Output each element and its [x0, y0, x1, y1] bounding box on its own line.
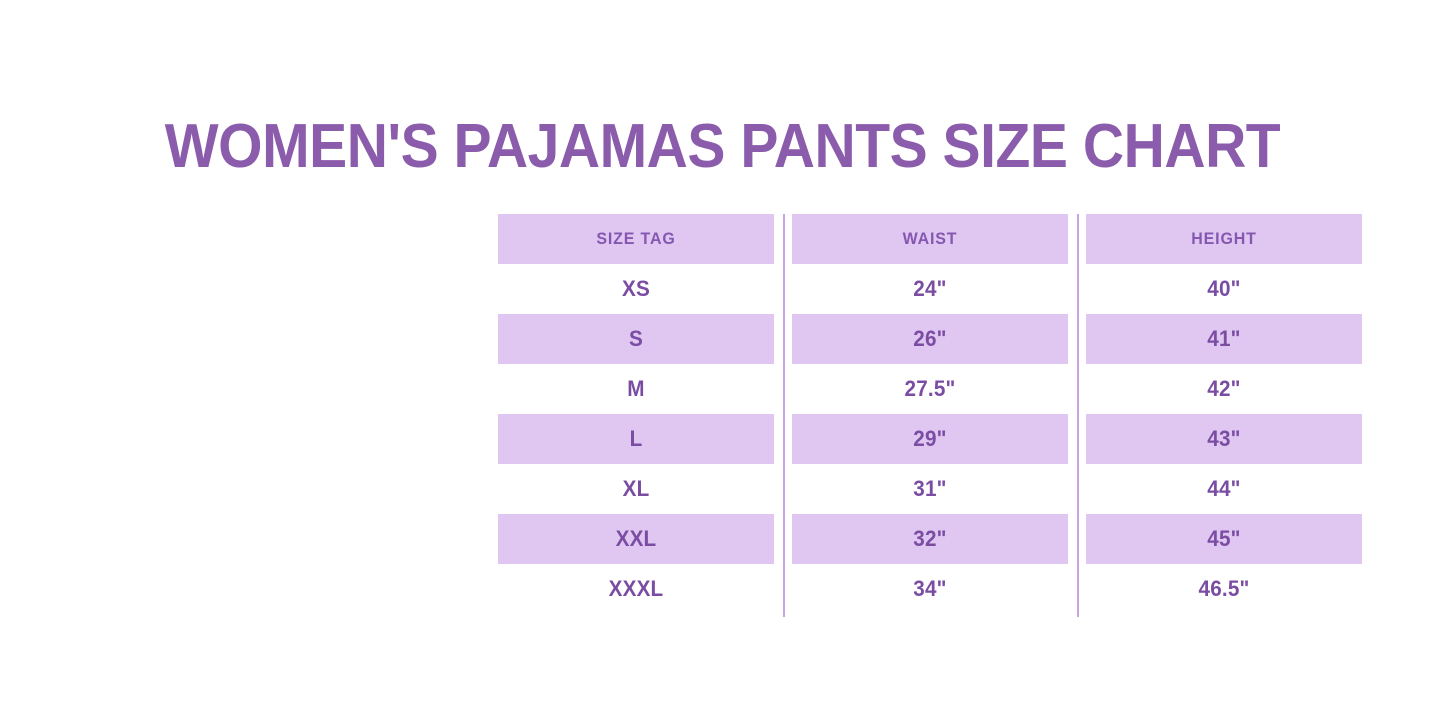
table-body: XS 24" 40" S 26" 41" M 27.5" 42" L 29" 4…: [489, 264, 1371, 614]
column-header-waist: WAIST: [792, 214, 1068, 264]
cell-size-tag: XS: [498, 264, 774, 314]
table-row: XXXL 34" 46.5": [489, 564, 1371, 614]
cell-size-tag: XXXL: [498, 564, 774, 614]
column-header-size-tag: SIZE TAG: [498, 214, 774, 264]
column-divider-2: [1077, 214, 1079, 617]
cell-waist: 32": [792, 514, 1068, 564]
table-row: XXL 32" 45": [489, 514, 1371, 564]
cell-waist: 27.5": [792, 364, 1068, 414]
column-divider-1: [783, 214, 785, 617]
cell-height: 41": [1086, 314, 1362, 364]
table-row: XL 31" 44": [489, 464, 1371, 514]
cell-waist: 31": [792, 464, 1068, 514]
page-title: WOMEN'S PAJAMAS PANTS SIZE CHART: [58, 110, 1387, 184]
cell-waist: 24": [792, 264, 1068, 314]
cell-height: 44": [1086, 464, 1362, 514]
cell-waist: 26": [792, 314, 1068, 364]
table-header-row: SIZE TAG WAIST HEIGHT: [489, 214, 1371, 264]
cell-size-tag: L: [498, 414, 774, 464]
cell-size-tag: XL: [498, 464, 774, 514]
cell-waist: 29": [792, 414, 1068, 464]
table-row: S 26" 41": [489, 314, 1371, 364]
table-header: SIZE TAG WAIST HEIGHT: [489, 214, 1371, 264]
column-header-height: HEIGHT: [1086, 214, 1362, 264]
cell-size-tag: S: [498, 314, 774, 364]
cell-height: 42": [1086, 364, 1362, 414]
cell-size-tag: XXL: [498, 514, 774, 564]
cell-height: 46.5": [1086, 564, 1362, 614]
cell-height: 40": [1086, 264, 1362, 314]
cell-size-tag: M: [498, 364, 774, 414]
cell-height: 45": [1086, 514, 1362, 564]
table-row: M 27.5" 42": [489, 364, 1371, 414]
cell-height: 43": [1086, 414, 1362, 464]
cell-waist: 34": [792, 564, 1068, 614]
size-chart-table: SIZE TAG WAIST HEIGHT XS 24" 40" S 26" 4…: [489, 214, 1371, 614]
table-row: XS 24" 40": [489, 264, 1371, 314]
size-chart-page: WOMEN'S PAJAMAS PANTS SIZE CHART SIZE TA…: [0, 0, 1445, 723]
table-row: L 29" 43": [489, 414, 1371, 464]
